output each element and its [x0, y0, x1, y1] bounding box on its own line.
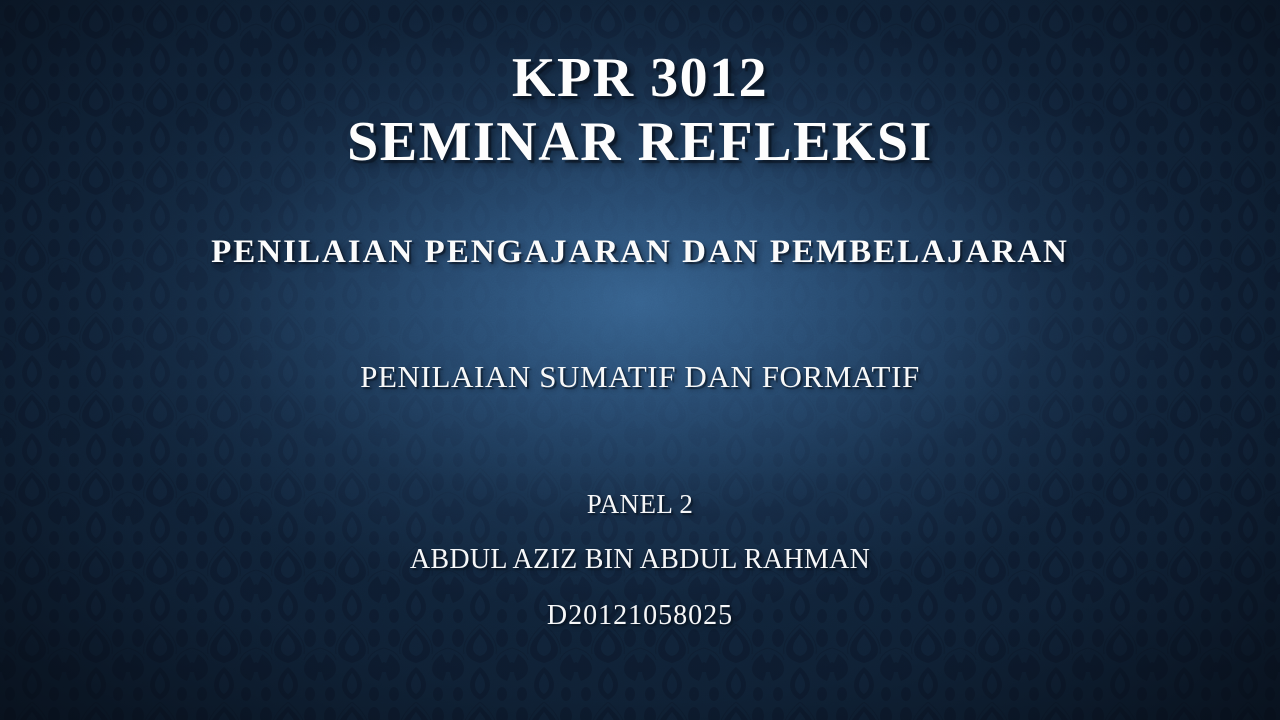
subtitle-primary: PENILAIAN PENGAJARAN DAN PEMBELAJARAN [0, 232, 1280, 272]
credit-panel: PANEL 2 [0, 476, 1280, 532]
title-line-seminar: SEMINAR REFLEKSI [0, 110, 1280, 174]
credit-matric-id: D20121058025 [0, 588, 1280, 644]
subtitle-secondary: PENILAIAN SUMATIF DAN FORMATIF [0, 358, 1280, 396]
title-line-course-code: KPR 3012 [0, 46, 1280, 110]
slide-content: KPR 3012 SEMINAR REFLEKSI PENILAIAN PENG… [0, 0, 1280, 720]
credit-author-name: ABDUL AZIZ BIN ABDUL RAHMAN [0, 532, 1280, 588]
presentation-slide: KPR 3012 SEMINAR REFLEKSI PENILAIAN PENG… [0, 0, 1280, 720]
credits-block: PANEL 2 ABDUL AZIZ BIN ABDUL RAHMAN D201… [0, 476, 1280, 644]
slide-title: KPR 3012 SEMINAR REFLEKSI [0, 46, 1280, 174]
